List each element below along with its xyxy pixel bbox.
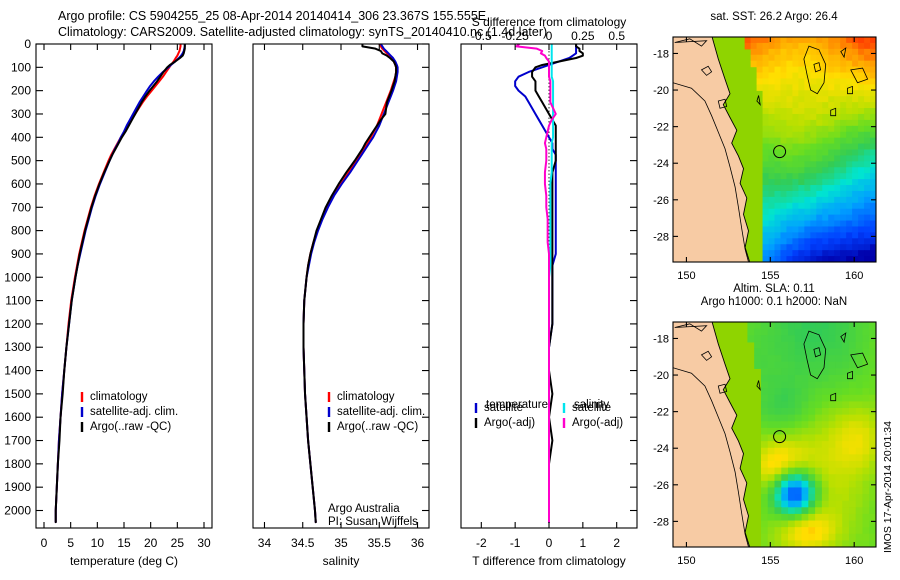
map-cell: [757, 49, 764, 56]
map-cell: [862, 481, 869, 488]
map-cell: [815, 421, 822, 428]
map-cell: [856, 388, 863, 395]
map-cell: [747, 322, 754, 329]
map-cell: [788, 348, 795, 355]
map-cell: [810, 203, 817, 210]
map-cell: [775, 355, 782, 362]
map-cell: [769, 215, 776, 222]
map-cell: [840, 203, 847, 210]
map-cell: [864, 55, 871, 62]
map-cell: [781, 395, 788, 402]
map-cell: [862, 501, 869, 508]
map-cell: [862, 487, 869, 494]
map-cell: [775, 382, 782, 389]
map-lon-tick: 155: [761, 270, 779, 282]
map-cell: [816, 102, 823, 109]
map-lat-tick: -24: [653, 158, 669, 170]
map-cell: [763, 114, 770, 121]
map-cell: [864, 250, 871, 257]
map-cell: [835, 421, 842, 428]
map-cell: [798, 161, 805, 168]
map-cell: [835, 514, 842, 521]
map-cell: [804, 150, 811, 157]
map-cell: [780, 238, 787, 245]
map-cell: [788, 428, 795, 435]
map-cell: [822, 514, 829, 521]
map-cell: [769, 120, 776, 127]
map-cell: [822, 215, 829, 222]
map-cell: [761, 534, 768, 541]
map-cell: [780, 114, 787, 121]
map-cell: [846, 191, 853, 198]
map-cell: [788, 494, 795, 501]
map-cell: [775, 461, 782, 468]
map-cell: [802, 375, 809, 382]
map-cell: [781, 401, 788, 408]
map-cell: [780, 78, 787, 85]
sst-map-panel: 150155160-18-20-22-24-26-28sat. SST: 26.…: [653, 11, 877, 282]
map-cell: [769, 226, 776, 233]
map-cell: [828, 102, 835, 109]
map-cell: [763, 84, 770, 91]
map-cell: [775, 468, 782, 475]
map-cell: [842, 382, 849, 389]
map-cell: [862, 375, 869, 382]
map-cell: [808, 521, 815, 528]
map-cell: [763, 221, 770, 228]
map-cell: [828, 244, 835, 251]
map-cell: [768, 534, 775, 541]
map-cell: [810, 126, 817, 133]
map-cell: [842, 388, 849, 395]
map-cell: [852, 90, 859, 97]
map-cell: [862, 474, 869, 481]
map-cell: [761, 435, 768, 442]
map-lat-tick: -22: [653, 122, 669, 134]
map-cell: [763, 78, 770, 85]
map-cell: [858, 102, 865, 109]
map-cell: [864, 209, 871, 216]
map-cell: [781, 461, 788, 468]
map-cell: [775, 102, 782, 109]
map-cell: [802, 534, 809, 541]
map-cell: [852, 37, 859, 44]
map-cell: [780, 90, 787, 97]
map-cell: [804, 132, 811, 139]
map-cell: [849, 521, 856, 528]
map-cell: [816, 215, 823, 222]
map-cell: [840, 167, 847, 174]
map-cell: [852, 138, 859, 145]
map-cell: [828, 43, 835, 50]
map-cell: [864, 96, 871, 103]
map-cell: [829, 534, 836, 541]
map-cell: [852, 244, 859, 251]
map-cell: [842, 362, 849, 369]
map-cell: [761, 329, 768, 336]
map-cell: [858, 167, 865, 174]
map-cell: [769, 209, 776, 216]
map-cell: [862, 415, 869, 422]
map-cell: [788, 395, 795, 402]
depth-tick-label: 100: [11, 60, 31, 74]
map-cell: [768, 474, 775, 481]
map-cell: [822, 167, 829, 174]
map-lon-tick: 160: [845, 555, 863, 567]
map-lat-tick: -28: [653, 231, 669, 243]
map-cell: [775, 335, 782, 342]
map-cell: [815, 534, 822, 541]
map-cell: [757, 78, 764, 85]
map-cell: [828, 250, 835, 257]
map-cell: [792, 232, 799, 239]
map-cell: [829, 501, 836, 508]
map-cell: [828, 120, 835, 127]
map-cell: [835, 435, 842, 442]
map-cell: [804, 209, 811, 216]
map-cell: [775, 43, 782, 50]
map-cell: [804, 90, 811, 97]
map-lat-tick: -18: [653, 48, 669, 60]
map-cell: [804, 191, 811, 198]
map-cell: [788, 527, 795, 534]
map-cell: [754, 355, 761, 362]
map-cell: [829, 487, 836, 494]
map-cell: [822, 454, 829, 461]
map-cell: [786, 132, 793, 139]
map-cell: [840, 250, 847, 257]
map-cell: [816, 78, 823, 85]
map-cell: [795, 335, 802, 342]
map-cell: [846, 49, 853, 56]
map-cell: [788, 521, 795, 528]
map-cell: [815, 481, 822, 488]
map-cell: [862, 382, 869, 389]
x-tick-label: 34.5: [291, 536, 315, 550]
depth-tick-label: 800: [11, 224, 31, 238]
map-cell: [754, 362, 761, 369]
map-cell: [864, 185, 871, 192]
map-cell: [856, 421, 863, 428]
map-cell: [808, 382, 815, 389]
map-cell: [810, 96, 817, 103]
map-cell: [775, 250, 782, 257]
map-cell: [852, 126, 859, 133]
map-cell: [798, 138, 805, 145]
map-cell: [792, 155, 799, 162]
map-cell: [808, 494, 815, 501]
map-cell: [840, 179, 847, 186]
map-cell: [792, 250, 799, 257]
map-cell: [816, 221, 823, 228]
map-cell: [846, 61, 853, 68]
map-cell: [775, 114, 782, 121]
map-cell: [788, 388, 795, 395]
map-cell: [834, 67, 841, 74]
map-cell: [775, 507, 782, 514]
map-cell: [815, 448, 822, 455]
map-cell: [781, 454, 788, 461]
map-cell: [768, 514, 775, 521]
map-cell: [775, 521, 782, 528]
map-cell: [822, 173, 829, 180]
map-cell: [816, 197, 823, 204]
map-cell: [802, 481, 809, 488]
map-cell: [864, 90, 871, 97]
map-cell: [862, 527, 869, 534]
map-cell: [828, 185, 835, 192]
map-cell: [786, 209, 793, 216]
map-cell: [834, 179, 841, 186]
map-cell: [788, 507, 795, 514]
map-cell: [775, 375, 782, 382]
map-cell: [808, 401, 815, 408]
map-cell: [795, 487, 802, 494]
map-cell: [786, 67, 793, 74]
map-cell: [751, 61, 758, 68]
map-cell: [763, 244, 770, 251]
map-cell: [840, 73, 847, 80]
map-cell: [822, 375, 829, 382]
map-cell: [849, 342, 856, 349]
map-cell: [786, 173, 793, 180]
map-cell: [802, 435, 809, 442]
map-cell: [769, 173, 776, 180]
map-cell: [862, 368, 869, 375]
map-cell: [840, 244, 847, 251]
map-cell: [788, 481, 795, 488]
map-cell: [829, 329, 836, 336]
map-cell: [864, 203, 871, 210]
map-cell: [804, 179, 811, 186]
map-cell: [761, 441, 768, 448]
map-cell: [769, 61, 776, 68]
s-diff-tick-label: -0.25: [501, 29, 529, 43]
map-cell: [780, 179, 787, 186]
map-cell: [775, 388, 782, 395]
map-cell: [781, 448, 788, 455]
map-cell: [810, 185, 817, 192]
map-cell: [802, 474, 809, 481]
map-cell: [862, 408, 869, 415]
map-cell: [840, 37, 847, 44]
map-cell: [745, 43, 752, 50]
map-cell: [780, 215, 787, 222]
map-cell: [763, 238, 770, 245]
map-cell: [751, 55, 758, 62]
map-cell: [834, 102, 841, 109]
map-cell: [822, 250, 829, 257]
map-cell: [804, 215, 811, 222]
map-cell: [858, 126, 865, 133]
map-cell: [761, 342, 768, 349]
map-cell: [802, 382, 809, 389]
map-cell: [864, 167, 871, 174]
map-cell: [775, 401, 782, 408]
map-cell: [840, 185, 847, 192]
map-cell: [792, 102, 799, 109]
depth-tick-label: 2000: [4, 504, 31, 518]
map-cell: [852, 61, 859, 68]
map-lat-tick: -18: [653, 333, 669, 345]
map-cell: [768, 481, 775, 488]
map-cell: [856, 415, 863, 422]
map-cell: [810, 150, 817, 157]
map-cell: [835, 507, 842, 514]
map-cell: [810, 232, 817, 239]
map-cell: [862, 448, 869, 455]
map-cell: [780, 244, 787, 251]
map-cell: [795, 368, 802, 375]
map-cell: [802, 507, 809, 514]
map-cell: [768, 382, 775, 389]
map-cell: [795, 329, 802, 336]
map-cell: [816, 108, 823, 115]
map-cell: [775, 197, 782, 204]
map-cell: [858, 96, 865, 103]
map-cell: [864, 197, 871, 204]
map-cell: [804, 173, 811, 180]
map-cell: [815, 435, 822, 442]
map-cell: [846, 226, 853, 233]
map-cell: [769, 78, 776, 85]
map-cell: [761, 514, 768, 521]
map-lat-tick: -20: [653, 370, 669, 382]
map-cell: [792, 150, 799, 157]
map-cell: [842, 527, 849, 534]
map-cell: [792, 173, 799, 180]
map-cell: [810, 161, 817, 168]
map-cell: [862, 521, 869, 528]
map-cell: [808, 534, 815, 541]
map-cell: [763, 108, 770, 115]
map-cell: [842, 474, 849, 481]
map-cell: [829, 342, 836, 349]
map-cell: [798, 144, 805, 151]
map-lon-tick: 155: [761, 555, 779, 567]
map-cell: [761, 507, 768, 514]
map-cell: [769, 250, 776, 257]
map-cell: [792, 61, 799, 68]
map-cell: [788, 322, 795, 329]
map-cell: [822, 329, 829, 336]
map-cell: [840, 161, 847, 168]
map-cell: [810, 49, 817, 56]
map-cell: [840, 96, 847, 103]
map-cell: [798, 43, 805, 50]
map-cell: [815, 461, 822, 468]
map-cell: [828, 114, 835, 121]
map-cell: [761, 428, 768, 435]
map-cell: [788, 435, 795, 442]
map-cell: [768, 362, 775, 369]
map-cell: [828, 49, 835, 56]
x-tick-label: -2: [476, 536, 487, 550]
map-cell: [849, 395, 856, 402]
map-lat-tick: -26: [653, 195, 669, 207]
map-cell: [852, 203, 859, 210]
legend-label: climatology: [337, 391, 395, 403]
map-cell: [858, 226, 865, 233]
map-cell: [842, 534, 849, 541]
map-cell: [786, 167, 793, 174]
map-cell: [834, 191, 841, 198]
map-cell: [822, 203, 829, 210]
x-tick-label: 15: [117, 536, 131, 550]
map-cell: [846, 167, 853, 174]
map-cell: [864, 215, 871, 222]
map-cell: [792, 191, 799, 198]
x-tick-label: -1: [510, 536, 521, 550]
map-cell: [788, 454, 795, 461]
map-cell: [775, 342, 782, 349]
map-cell: [829, 368, 836, 375]
depth-tick-label: 1400: [4, 364, 31, 378]
map-cell: [780, 37, 787, 44]
credit-line1: Argo Australia: [328, 503, 400, 515]
map-cell: [816, 173, 823, 180]
map-cell: [795, 461, 802, 468]
map-cell: [852, 114, 859, 121]
map-cell: [792, 221, 799, 228]
map-cell: [858, 49, 865, 56]
map-cell: [768, 329, 775, 336]
map-cell: [763, 215, 770, 222]
map-cell: [828, 37, 835, 44]
map-cell: [761, 375, 768, 382]
map-cell: [786, 55, 793, 62]
map-cell: [816, 73, 823, 80]
map-cell: [786, 96, 793, 103]
map-cell: [862, 514, 869, 521]
map-cell: [780, 197, 787, 204]
map-cell: [769, 232, 776, 239]
map-cell: [804, 226, 811, 233]
map-cell: [798, 244, 805, 251]
map-cell: [802, 421, 809, 428]
map-cell: [775, 368, 782, 375]
map-cell: [769, 49, 776, 56]
map-cell: [828, 61, 835, 68]
map-cell: [852, 43, 859, 50]
map-cell: [763, 61, 770, 68]
map-cell: [835, 388, 842, 395]
map-cell: [780, 203, 787, 210]
map-cell: [763, 191, 770, 198]
map-cell: [775, 329, 782, 336]
map-cell: [829, 428, 836, 435]
map-cell: [816, 37, 823, 44]
map-cell: [822, 138, 829, 145]
map-cell: [804, 102, 811, 109]
map-cell: [864, 126, 871, 133]
map-cell: [842, 454, 849, 461]
map-cell: [775, 73, 782, 80]
map-cell: [810, 132, 817, 139]
map-cell: [795, 441, 802, 448]
map-cell: [769, 185, 776, 192]
map-cell: [822, 209, 829, 216]
map-cell: [834, 73, 841, 80]
map-cell: [780, 55, 787, 62]
map-cell: [856, 534, 863, 541]
map-cell: [822, 132, 829, 139]
map-cell: [842, 501, 849, 508]
map-cell: [798, 173, 805, 180]
map-cell: [856, 362, 863, 369]
map-cell: [816, 49, 823, 56]
map-cell: [858, 197, 865, 204]
